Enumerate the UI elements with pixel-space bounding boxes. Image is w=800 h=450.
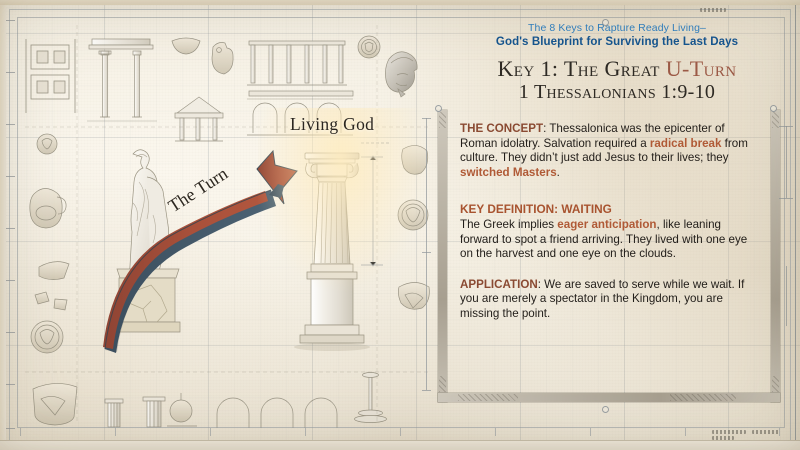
top-edge-strip (0, 0, 800, 5)
bottom-ruler (20, 428, 780, 436)
titleblock-note-c (712, 436, 734, 440)
left-ruler (6, 20, 15, 430)
outer-frame (4, 4, 796, 446)
bottom-edge-strip (0, 440, 800, 450)
titleblock-note-b (752, 430, 780, 434)
titleblock-note-d (700, 8, 726, 12)
slide-root: Living God The Turn The 8 Keys to Raptur… (0, 0, 800, 450)
titleblock-note-a (712, 430, 746, 434)
